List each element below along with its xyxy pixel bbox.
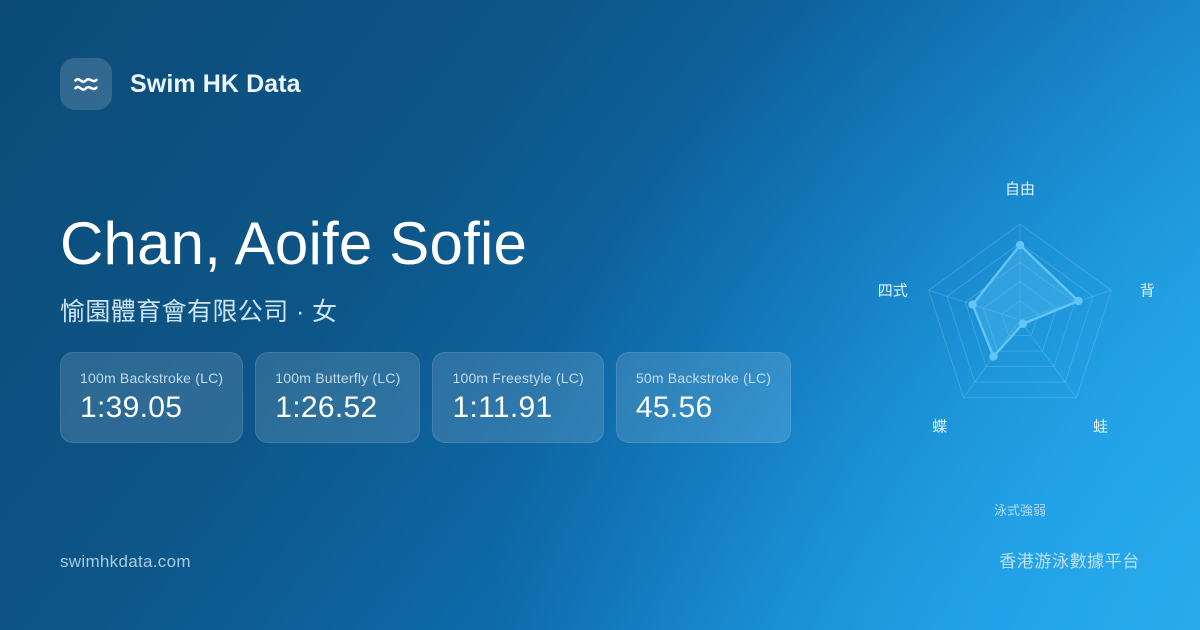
radar-axis-label: 自由 xyxy=(1005,181,1035,198)
radar-data-point xyxy=(1074,297,1082,305)
stat-card-value: 1:11.91 xyxy=(452,392,583,424)
stat-card[interactable]: 100m Butterfly (LC)1:26.52 xyxy=(255,352,420,443)
radar-data-point xyxy=(968,300,976,308)
stat-card[interactable]: 100m Freestyle (LC)1:11.91 xyxy=(432,352,603,443)
radar-spoke xyxy=(1020,320,1076,398)
radar-chart-title: 泳式強弱 xyxy=(994,503,1046,518)
stat-card-label: 100m Freestyle (LC) xyxy=(452,370,583,386)
radar-axis-label: 四式 xyxy=(878,282,908,299)
stat-card-label: 50m Backstroke (LC) xyxy=(636,370,771,386)
radar-data-point xyxy=(1016,241,1024,249)
athlete-meta: 愉園體育會有限公司 · 女 xyxy=(60,292,820,328)
wave-icon xyxy=(60,58,112,110)
footer-site-url: swimhkdata.com xyxy=(60,552,191,572)
og-card: Swim HK Data Chan, Aoife Sofie 愉園體育會有限公司… xyxy=(0,0,1200,630)
radar-data-point xyxy=(1019,320,1027,328)
stat-card-label: 100m Butterfly (LC) xyxy=(275,370,400,386)
stat-card-label: 100m Backstroke (LC) xyxy=(80,370,223,386)
page-title: Chan, Aoife Sofie xyxy=(60,212,820,276)
stat-card-row: 100m Backstroke (LC)1:39.05100m Butterfl… xyxy=(60,352,791,443)
footer-tagline: 香港游泳數據平台 xyxy=(999,547,1140,572)
stat-card[interactable]: 50m Backstroke (LC)45.56 xyxy=(616,352,791,443)
radar-axis-label: 蝶 xyxy=(932,419,947,436)
radar-axis-label: 背 xyxy=(1140,282,1155,299)
stat-card[interactable]: 100m Backstroke (LC)1:39.05 xyxy=(60,352,243,443)
athlete-block: Chan, Aoife Sofie 愉園體育會有限公司 · 女 xyxy=(60,212,820,328)
radar-data-point xyxy=(989,352,997,360)
brand-name: Swim HK Data xyxy=(130,70,301,99)
brand-header: Swim HK Data xyxy=(60,58,301,110)
stat-card-value: 1:39.05 xyxy=(80,392,223,424)
swim-strength-radar-chart: 自由背蛙蝶四式泳式強弱 xyxy=(840,160,1200,480)
stat-card-value: 45.56 xyxy=(636,392,771,424)
stat-card-value: 1:26.52 xyxy=(275,392,400,424)
radar-axis-label: 蛙 xyxy=(1093,419,1108,436)
